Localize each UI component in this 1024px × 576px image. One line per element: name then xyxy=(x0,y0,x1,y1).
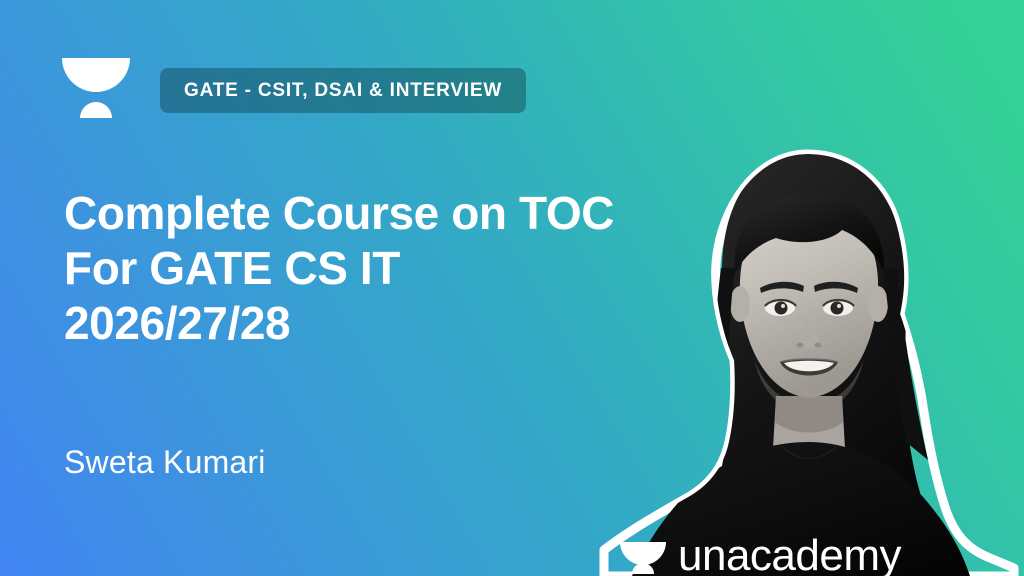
logo-bowl-shape xyxy=(62,58,130,92)
logo-dome-shape xyxy=(80,102,112,118)
course-thumbnail-card: GATE - CSIT, DSAI & INTERVIEW Complete C… xyxy=(0,0,1024,576)
category-badge: GATE - CSIT, DSAI & INTERVIEW xyxy=(160,68,526,113)
shirt-unacademy-logo-icon xyxy=(616,382,660,404)
course-title: Complete Course on TOC For GATE CS IT 20… xyxy=(64,186,624,351)
educator-name: Sweta Kumari xyxy=(64,443,266,481)
educator-portrait: unacademy xyxy=(594,146,1024,576)
svg-text:unacademy: unacademy xyxy=(678,531,901,576)
category-badge-label: GATE - CSIT, DSAI & INTERVIEW xyxy=(184,81,502,100)
unacademy-bowl-logo-icon xyxy=(62,58,130,134)
